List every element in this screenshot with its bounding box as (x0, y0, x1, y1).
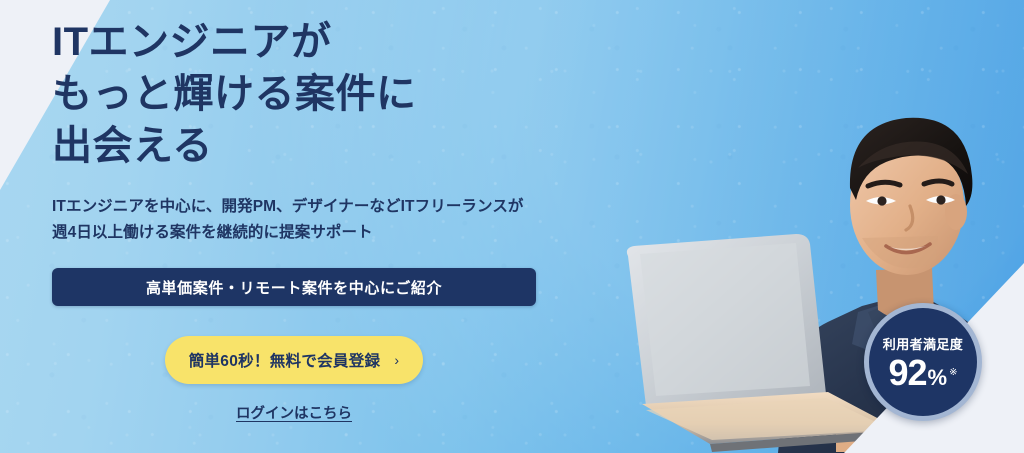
satisfaction-number: 92 (889, 355, 927, 391)
asterisk-mark: ※ (949, 368, 957, 378)
headline-line-1: ITエンジニアが (52, 16, 572, 68)
signup-button[interactable]: 簡単60秒！無料で会員登録 › (165, 336, 423, 384)
hero-banner: ITエンジニアが もっと輝ける案件に 出会える ITエンジニアを中心に、開発PM… (0, 0, 1024, 453)
ribbon-label: 高単価案件・リモート案件を中心にご紹介 (146, 277, 442, 298)
hero-subheadline: ITエンジニアを中心に、開発PM、デザイナーなどITフリーランスが 週4日以上働… (52, 194, 572, 246)
headline-line-3: 出会える (52, 120, 572, 172)
satisfaction-badge-value: 92 % ※ (889, 355, 958, 391)
signup-button-label: 簡単60秒！無料で会員登録 (189, 349, 381, 371)
cta-container: 簡単60秒！無料で会員登録 › (52, 336, 536, 384)
login-container: ログインはこちら (52, 402, 536, 423)
value-proposition-ribbon: 高単価案件・リモート案件を中心にご紹介 (52, 268, 536, 306)
subheadline-line-2: 週4日以上働ける案件を継続的に提案サポート (52, 220, 572, 246)
subheadline-line-1: ITエンジニアを中心に、開発PM、デザイナーなどITフリーランスが (52, 194, 572, 220)
chevron-right-icon: › (394, 353, 399, 367)
hero-copy-column: ITエンジニアが もっと輝ける案件に 出会える ITエンジニアを中心に、開発PM… (52, 0, 572, 423)
satisfaction-badge: 利用者満足度 92 % ※ (864, 303, 982, 421)
login-link[interactable]: ログインはこちら (236, 402, 352, 423)
headline-line-2: もっと輝ける案件に (52, 68, 572, 120)
percent-sign: % (928, 367, 948, 389)
page-title: ITエンジニアが もっと輝ける案件に 出会える (52, 0, 572, 172)
satisfaction-badge-label: 利用者満足度 (883, 334, 963, 353)
